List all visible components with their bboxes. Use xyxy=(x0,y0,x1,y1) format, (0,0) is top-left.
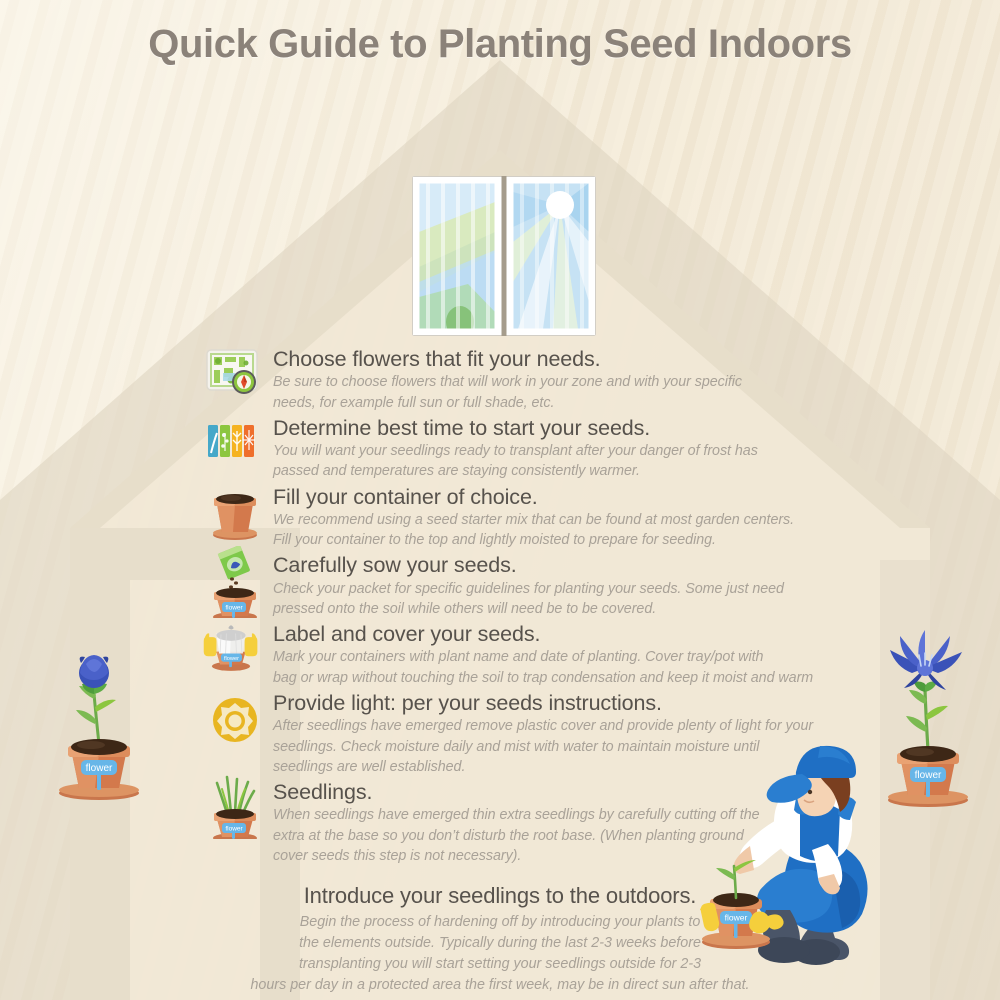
step-item: Determine best time to start your seeds.… xyxy=(205,415,845,482)
svg-text:flower: flower xyxy=(725,913,748,923)
step-heading: Choose flowers that fit your needs. xyxy=(273,346,845,372)
kneeling-gardener-illustration: flower xyxy=(700,728,940,978)
step-heading: Provide light: per your seeds instructio… xyxy=(273,690,845,716)
step-item: flower Carefully sow your seeds. Check y… xyxy=(205,552,845,619)
step-body: Mark your containers with plant name and… xyxy=(273,647,845,688)
step-item: Fill your container of choice. We recomm… xyxy=(205,484,845,551)
page-title: Quick Guide to Planting Seed Indoors xyxy=(0,22,1000,67)
svg-text:flower: flower xyxy=(86,763,113,774)
svg-text:flower: flower xyxy=(225,605,243,612)
step-heading: Label and cover your seeds. xyxy=(273,621,845,647)
garden-map-compass-icon xyxy=(205,346,265,408)
covered-pot-gloves-icon: flower xyxy=(201,619,261,675)
svg-text:flower: flower xyxy=(224,656,239,662)
step-body: Check your packet for specific guideline… xyxy=(273,579,845,620)
filled-pot-icon xyxy=(205,486,265,548)
step-heading: Determine best time to start your seeds. xyxy=(273,415,845,441)
sun-light-icon xyxy=(205,694,265,756)
step-item: flower Label and cover your seeds. Mark … xyxy=(205,621,845,688)
svg-text:flower: flower xyxy=(225,826,243,833)
step-heading: Carefully sow your seeds. xyxy=(273,552,845,578)
sunlit-window-illustration xyxy=(408,172,600,340)
step-heading: Fill your container of choice. xyxy=(273,484,845,510)
infographic-poster: Quick Guide to Planting Seed Indoors xyxy=(0,0,1000,1000)
step-body: We recommend using a seed starter mix th… xyxy=(273,510,845,551)
step-item: Choose flowers that fit your needs. Be s… xyxy=(205,346,845,413)
seed-packet-sowing-icon: flower xyxy=(205,546,265,618)
seedlings-pot-icon: flower xyxy=(205,767,265,839)
blue-rose-potted-plant: flower xyxy=(44,636,154,801)
four-seasons-bar-icon xyxy=(205,419,265,481)
step-body: You will want your seedlings ready to tr… xyxy=(273,441,845,482)
step-body: Be sure to choose flowers that will work… xyxy=(273,372,845,413)
